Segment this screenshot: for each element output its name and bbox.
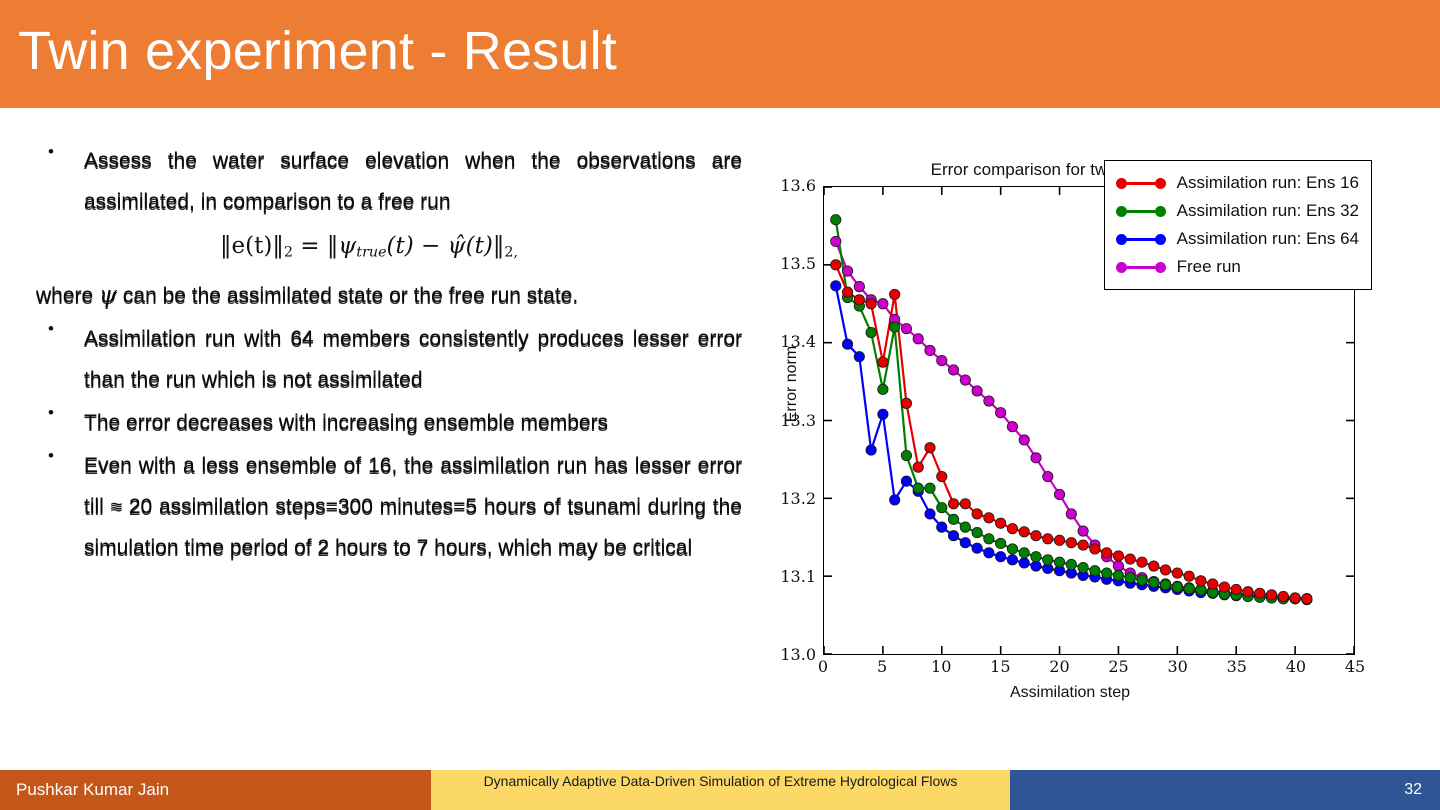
chart-data-point (913, 462, 923, 472)
bullet-marker-icon: • (48, 447, 54, 464)
formula-rhs-open: ‖ (327, 233, 339, 259)
chart-data-point (878, 357, 888, 367)
chart-data-point (925, 345, 935, 355)
chart-y-tick: 13.0 (780, 645, 816, 664)
chart-data-point (1278, 591, 1288, 601)
chart-data-point (1290, 593, 1300, 603)
footer-page-band (1010, 770, 1440, 810)
bullet-marker-icon: • (48, 143, 54, 160)
chart-y-tick-labels: 13.013.113.213.313.413.513.6 (760, 186, 823, 655)
chart-x-tick: 35 (1227, 657, 1247, 676)
bullet-item-2: • Assimilation run with 64 members consi… (26, 318, 742, 400)
chart-y-tick: 13.2 (780, 489, 816, 508)
chart-data-point (1043, 555, 1053, 565)
chart-data-point (1207, 579, 1217, 589)
chart-data-point (842, 266, 852, 276)
chart-data-point (984, 534, 994, 544)
chart-data-point (960, 522, 970, 532)
chart-y-tick: 13.4 (780, 332, 816, 351)
chart-data-point (878, 409, 888, 419)
chart-data-point (901, 476, 911, 486)
formula-psi: ψ (338, 233, 356, 259)
chart-data-point (972, 509, 982, 519)
chart-data-point (866, 299, 876, 309)
error-comparison-chart: Error comparison for twin experiment Err… (760, 150, 1380, 710)
legend-item[interactable]: Assimilation run: Ens 32 (1115, 197, 1359, 225)
chart-data-point (948, 365, 958, 375)
chart-data-point (1196, 585, 1206, 595)
chart-data-point (901, 450, 911, 460)
chart-data-point (995, 408, 1005, 418)
chart-data-point (1054, 535, 1064, 545)
formula-rhs-mid: (t) − (387, 233, 448, 259)
chart-data-point (984, 396, 994, 406)
chart-x-tick: 10 (931, 657, 951, 676)
chart-data-point (995, 552, 1005, 562)
bullet-marker-icon: • (48, 320, 54, 337)
where-pre: where (36, 284, 99, 307)
chart-data-point (995, 538, 1005, 548)
chart-data-point (1031, 453, 1041, 463)
chart-data-point (913, 334, 923, 344)
chart-data-point (1172, 582, 1182, 592)
chart-data-point (960, 538, 970, 548)
where-psi-symbol: ψ (99, 282, 117, 308)
chart-data-point (1090, 566, 1100, 576)
formula-equals: = (300, 233, 319, 259)
bullet-text-1: Assess the water surface elevation when … (84, 140, 742, 222)
chart-data-point (1255, 588, 1265, 598)
chart-data-point (878, 299, 888, 309)
chart-x-axis-label: Assimilation step (760, 684, 1380, 702)
formula-psi-hat: ψ̂ (448, 233, 466, 259)
chart-data-point (1007, 555, 1017, 565)
chart-data-point (1184, 571, 1194, 581)
slide-body: • Assess the water surface elevation whe… (26, 140, 742, 720)
chart-data-point (842, 339, 852, 349)
legend-label: Assimilation run: Ens 16 (1177, 173, 1359, 193)
chart-x-tick-labels: 051015202530354045 (823, 655, 1355, 685)
chart-data-point (1113, 551, 1123, 561)
formula-lhs: ‖e(t)‖ (220, 233, 284, 259)
chart-x-tick: 45 (1345, 657, 1365, 676)
chart-data-point (1019, 558, 1029, 568)
chart-data-point (1231, 584, 1241, 594)
chart-data-point (1019, 548, 1029, 558)
chart-x-tick: 0 (818, 657, 828, 676)
chart-data-point (1113, 561, 1123, 571)
chart-data-point (1125, 573, 1135, 583)
legend-marker-icon (1115, 232, 1167, 246)
bullet-item-4: • Even with a less ensemble of 16, the a… (26, 445, 742, 568)
chart-data-point (901, 398, 911, 408)
chart-data-point (1172, 568, 1182, 578)
chart-data-point (878, 384, 888, 394)
chart-data-point (866, 445, 876, 455)
chart-x-tick: 25 (1108, 657, 1128, 676)
chart-data-point (1137, 575, 1147, 585)
chart-data-point (1078, 526, 1088, 536)
chart-data-point (831, 260, 841, 270)
chart-data-point (1090, 544, 1100, 554)
chart-data-point (889, 289, 899, 299)
chart-data-point (854, 295, 864, 305)
chart-data-point (1302, 594, 1312, 604)
formula-rhs-sub: 2, (504, 245, 518, 261)
chart-data-point (1066, 509, 1076, 519)
bullet-item-1: • Assess the water surface elevation whe… (26, 140, 742, 222)
legend-item[interactable]: Assimilation run: Ens 16 (1115, 169, 1359, 197)
chart-data-point (901, 323, 911, 333)
chart-y-tick: 13.5 (780, 254, 816, 273)
chart-data-point (1101, 548, 1111, 558)
chart-data-point (1101, 568, 1111, 578)
bullet-text-3: The error decreases with increasing ense… (84, 402, 742, 443)
slide-footer: Pushkar Kumar Jain Dynamically Adaptive … (0, 770, 1440, 810)
chart-data-point (1196, 576, 1206, 586)
chart-data-point (995, 518, 1005, 528)
chart-data-point (866, 327, 876, 337)
error-norm-formula: ‖e(t)‖2 = ‖ψtrue(t) − ψ̂(t)‖2, (26, 224, 742, 275)
chart-data-point (937, 522, 947, 532)
chart-data-point (1043, 471, 1053, 481)
chart-data-point (1054, 489, 1064, 499)
bullet-text-2: Assimilation run with 64 members consist… (84, 318, 742, 400)
legend-label: Assimilation run: Ens 64 (1177, 229, 1359, 249)
chart-data-point (948, 531, 958, 541)
chart-data-point (1031, 531, 1041, 541)
chart-data-point (1066, 538, 1076, 548)
chart-data-point (1007, 524, 1017, 534)
legend-marker-icon (1115, 204, 1167, 218)
page-title: Twin experiment - Result (18, 21, 617, 81)
chart-data-point (925, 509, 935, 519)
chart-data-point (1125, 554, 1135, 564)
legend-label: Free run (1177, 257, 1241, 277)
legend-marker-icon (1115, 176, 1167, 190)
chart-legend: Assimilation run: Ens 16Assimilation run… (1104, 160, 1372, 290)
chart-data-point (925, 483, 935, 493)
chart-data-point (1149, 577, 1159, 587)
formula-psi-sub: true (356, 245, 386, 261)
chart-data-point (984, 513, 994, 523)
chart-data-point (1266, 590, 1276, 600)
chart-data-point (913, 483, 923, 493)
chart-y-tick: 13.1 (780, 567, 816, 586)
chart-data-point (1137, 557, 1147, 567)
legend-label: Assimilation run: Ens 32 (1177, 201, 1359, 221)
chart-y-tick: 13.3 (780, 411, 816, 430)
chart-data-point (937, 355, 947, 365)
chart-series-line (836, 265, 1307, 599)
chart-data-point (1160, 565, 1170, 575)
footer-page-number: 32 (1404, 781, 1422, 799)
chart-data-point (842, 287, 852, 297)
chart-data-point (1113, 570, 1123, 580)
chart-data-point (937, 471, 947, 481)
chart-data-point (854, 351, 864, 361)
chart-data-point (889, 322, 899, 332)
bullet-text-4: Even with a less ensemble of 16, the ass… (84, 445, 742, 568)
chart-data-point (948, 514, 958, 524)
chart-data-point (1078, 562, 1088, 572)
chart-data-point (889, 495, 899, 505)
chart-data-point (1243, 587, 1253, 597)
slide-root: Twin experiment - Result • Assess the wa… (0, 0, 1440, 810)
chart-data-point (854, 281, 864, 291)
chart-data-point (960, 375, 970, 385)
chart-data-point (925, 443, 935, 453)
chart-x-tick: 30 (1167, 657, 1187, 676)
chart-data-point (1078, 540, 1088, 550)
chart-data-point (984, 548, 994, 558)
chart-data-point (1066, 559, 1076, 569)
chart-data-point (937, 502, 947, 512)
chart-x-tick: 40 (1286, 657, 1306, 676)
chart-data-point (972, 386, 982, 396)
chart-data-point (831, 236, 841, 246)
chart-data-point (948, 499, 958, 509)
chart-data-point (972, 527, 982, 537)
chart-data-point (1031, 561, 1041, 571)
chart-data-point (1184, 583, 1194, 593)
formula-where-note: where ψ can be the assimilated state or … (26, 275, 742, 316)
legend-marker-icon (1115, 260, 1167, 274)
formula-rhs-close: (t)‖ (466, 233, 505, 259)
chart-data-point (831, 281, 841, 291)
chart-data-point (960, 499, 970, 509)
bullet-item-3: • The error decreases with increasing en… (26, 402, 742, 443)
footer-conference-title: Dynamically Adaptive Data-Driven Simulat… (441, 773, 1000, 790)
chart-data-point (1031, 552, 1041, 562)
chart-x-tick: 5 (877, 657, 887, 676)
chart-data-point (1149, 561, 1159, 571)
chart-data-point (1019, 527, 1029, 537)
chart-x-tick: 15 (990, 657, 1010, 676)
bullet-marker-icon: • (48, 404, 54, 421)
chart-data-point (1160, 580, 1170, 590)
formula-lhs-sub: 2 (284, 245, 293, 261)
chart-data-point (831, 215, 841, 225)
legend-item[interactable]: Free run (1115, 253, 1359, 281)
footer-author: Pushkar Kumar Jain (16, 780, 169, 800)
where-post: can be the assimilated state or the free… (117, 284, 578, 307)
legend-item[interactable]: Assimilation run: Ens 64 (1115, 225, 1359, 253)
chart-x-tick: 20 (1049, 657, 1069, 676)
chart-data-point (1043, 534, 1053, 544)
chart-y-tick: 13.6 (780, 176, 816, 195)
chart-data-point (1219, 582, 1229, 592)
chart-data-point (1007, 544, 1017, 554)
chart-data-point (1007, 422, 1017, 432)
chart-data-point (972, 543, 982, 553)
chart-data-point (1054, 557, 1064, 567)
chart-data-point (1019, 435, 1029, 445)
